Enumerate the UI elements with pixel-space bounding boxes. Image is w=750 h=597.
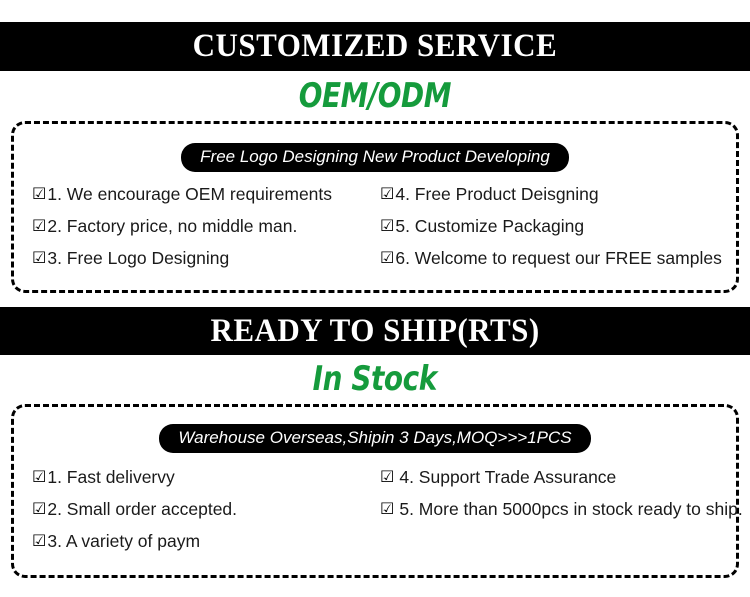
list-item: ☑ 5. Customize Packaging [380,216,726,248]
list-item: ☑ 1. We encourage OEM requirements [32,184,380,216]
customized-service-content-box: Free Logo Designing New Product Developi… [11,121,739,293]
list-item-label: 3. A variety of paym [47,531,200,552]
ready-to-ship-feature-list: ☑ 1. Fast delivervy ☑ 4. Support Trade A… [14,467,736,563]
list-item-label: 5. Customize Packaging [395,216,584,237]
list-item: ☑ 2. Factory price, no middle man. [32,216,380,248]
list-item-label: 6. Welcome to request our FREE samples [395,248,721,269]
list-item-label: 2. Factory price, no middle man. [47,216,297,237]
customized-service-feature-list: ☑ 1. We encourage OEM requirements ☑ 4. … [14,184,736,280]
list-item-label: 5. More than 5000pcs in stock ready to s… [399,499,742,520]
green-heading-oem-odm: OEM/ODM [0,76,750,116]
green-heading-oem-odm-text: OEM/ODM [299,76,451,116]
list-item: ☑ 6. Welcome to request our FREE samples [380,248,726,280]
list-item-empty [380,531,743,563]
pill-container-free-logo-designing: Free Logo Designing New Product Developi… [14,143,736,172]
section-banner-ready-to-ship: READY TO SHIP(RTS) [0,307,750,355]
checkbox-checked-icon: ☑ [32,186,46,202]
checkbox-checked-icon: ☑ [380,469,394,485]
checkbox-checked-icon: ☑ [32,501,46,517]
list-item: ☑ 2. Small order accepted. [32,499,380,531]
green-heading-in-stock-text: In Stock [313,359,437,399]
checkbox-checked-icon: ☑ [380,186,394,202]
list-item: ☑ 4. Support Trade Assurance [380,467,743,499]
list-item-label: 3. Free Logo Designing [47,248,229,269]
list-item: ☑ 3. A variety of paym [32,531,380,563]
list-item-label: 1. Fast delivervy [47,467,174,488]
list-item-label: 4. Free Product Deisgning [395,184,598,205]
promo-banner-page: CUSTOMIZED SERVICE OEM/ODM Free Logo Des… [0,0,750,597]
pill-label-free-logo-designing: Free Logo Designing New Product Developi… [181,143,569,172]
list-item: ☑ 1. Fast delivervy [32,467,380,499]
list-item: ☑ 4. Free Product Deisgning [380,184,726,216]
checkbox-checked-icon: ☑ [380,218,394,234]
checkbox-checked-icon: ☑ [32,218,46,234]
list-item-label: 1. We encourage OEM requirements [47,184,332,205]
checkbox-checked-icon: ☑ [380,250,394,266]
ready-to-ship-content-box: Warehouse Overseas,Shipin 3 Days,MOQ>>>1… [11,404,739,578]
checkbox-checked-icon: ☑ [32,533,46,549]
list-item: ☑ 3. Free Logo Designing [32,248,380,280]
checkbox-checked-icon: ☑ [380,501,394,517]
pill-label-warehouse-overseas: Warehouse Overseas,Shipin 3 Days,MOQ>>>1… [159,424,590,453]
green-heading-in-stock: In Stock [0,359,750,399]
checkbox-checked-icon: ☑ [32,250,46,266]
section-banner-customized-service: CUSTOMIZED SERVICE [0,22,750,71]
list-item-label: 2. Small order accepted. [47,499,237,520]
pill-container-warehouse-overseas: Warehouse Overseas,Shipin 3 Days,MOQ>>>1… [14,424,736,453]
list-item-label: 4. Support Trade Assurance [399,467,616,488]
list-item: ☑ 5. More than 5000pcs in stock ready to… [380,499,743,531]
checkbox-checked-icon: ☑ [32,469,46,485]
banner-title-customized-service: CUSTOMIZED SERVICE [193,28,557,65]
banner-title-ready-to-ship: READY TO SHIP(RTS) [210,313,539,350]
